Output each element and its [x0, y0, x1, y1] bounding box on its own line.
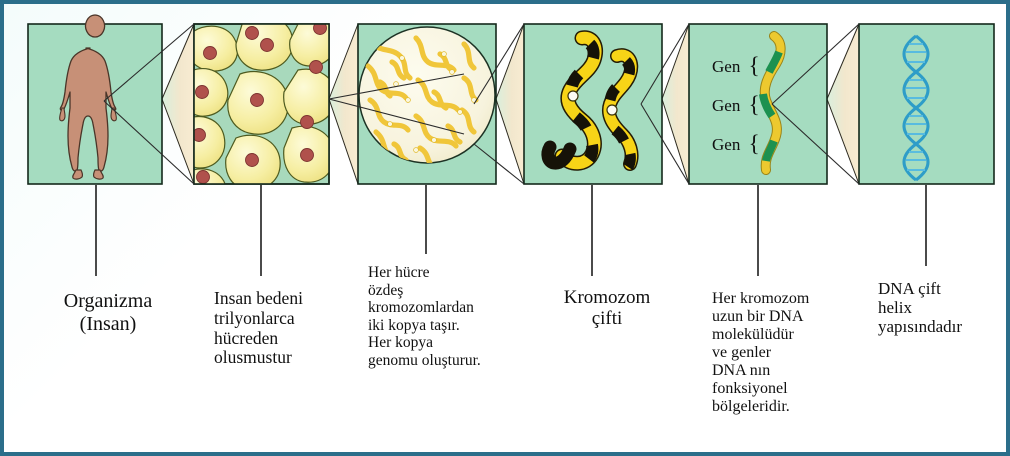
caption-nucleus: Her hücre özdeş kromozomlardan iki kopya…	[368, 264, 528, 369]
wedge-cells-to-nucleus	[329, 24, 358, 184]
wedge-gene-to-dna	[827, 24, 859, 184]
gene-brace-icon-1: {	[749, 53, 760, 79]
gene-brace-icon-3: {	[749, 131, 760, 157]
wedge-chromosome-to-gene	[662, 24, 689, 184]
figure-root: Gen { Gen { Gen { Organizma (Insan) Insa…	[0, 0, 1010, 456]
caption-organism: Organizma (Insan)	[18, 290, 198, 335]
caption-stems	[96, 185, 926, 276]
wedge-nucleus-to-chromosome	[496, 24, 524, 184]
caption-cells: Insan bedeni trilyonlarca hücreden olusm…	[214, 289, 354, 368]
gene-label-text-1: Gen	[712, 57, 740, 76]
caption-chromosome: Kromozom çifti	[532, 287, 682, 330]
gene-label-text-2: Gen	[712, 96, 740, 115]
cell-tissue-icon	[178, 15, 336, 232]
cells-panel[interactable]	[178, 15, 336, 232]
caption-dna: DNA çift helix yapısındadır	[878, 279, 1008, 337]
nucleus-panel[interactable]	[358, 24, 496, 184]
gene-label-3: Gen {	[712, 130, 760, 156]
gene-label-2: Gen {	[712, 91, 760, 117]
diagram-stage: Gen { Gen { Gen { Organizma (Insan) Insa…	[4, 4, 1010, 456]
gene-brace-icon-2: {	[749, 92, 760, 118]
wedge-organism-to-cells	[162, 24, 194, 184]
organism-panel[interactable]	[28, 15, 162, 184]
gene-label-1: Gen {	[712, 52, 760, 78]
dna-helix-panel[interactable]	[859, 24, 994, 184]
caption-gene: Her kromozom uzun bir DNA molekülüdür ve…	[712, 290, 862, 417]
gene-label-text-3: Gen	[712, 135, 740, 154]
